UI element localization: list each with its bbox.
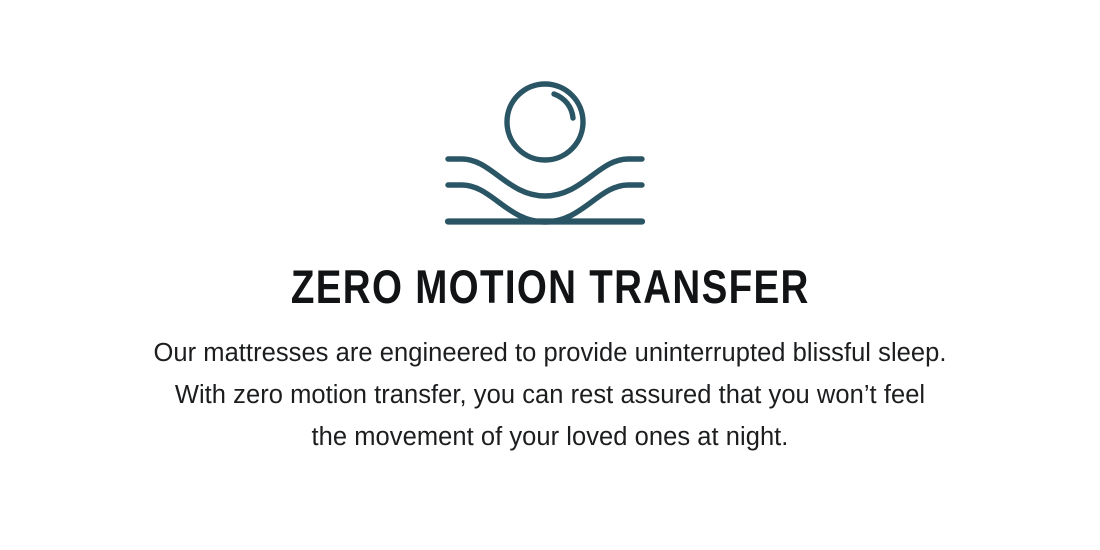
circle-icon [507,84,583,160]
description-line-1: Our mattresses are engineered to provide… [70,332,1030,374]
description-line-3: the movement of your loved ones at night… [70,416,1030,458]
page-title: ZERO MOTION TRANSFER [291,263,810,311]
wave-line-lower [448,185,642,222]
circle-highlight-arc [554,94,573,118]
feature-description: Our mattresses are engineered to provide… [70,332,1030,458]
description-line-2: With zero motion transfer, you can rest … [70,374,1030,416]
zero-motion-transfer-icon [435,74,665,236]
feature-block: ZERO MOTION TRANSFER Our mattresses are … [0,0,1100,550]
